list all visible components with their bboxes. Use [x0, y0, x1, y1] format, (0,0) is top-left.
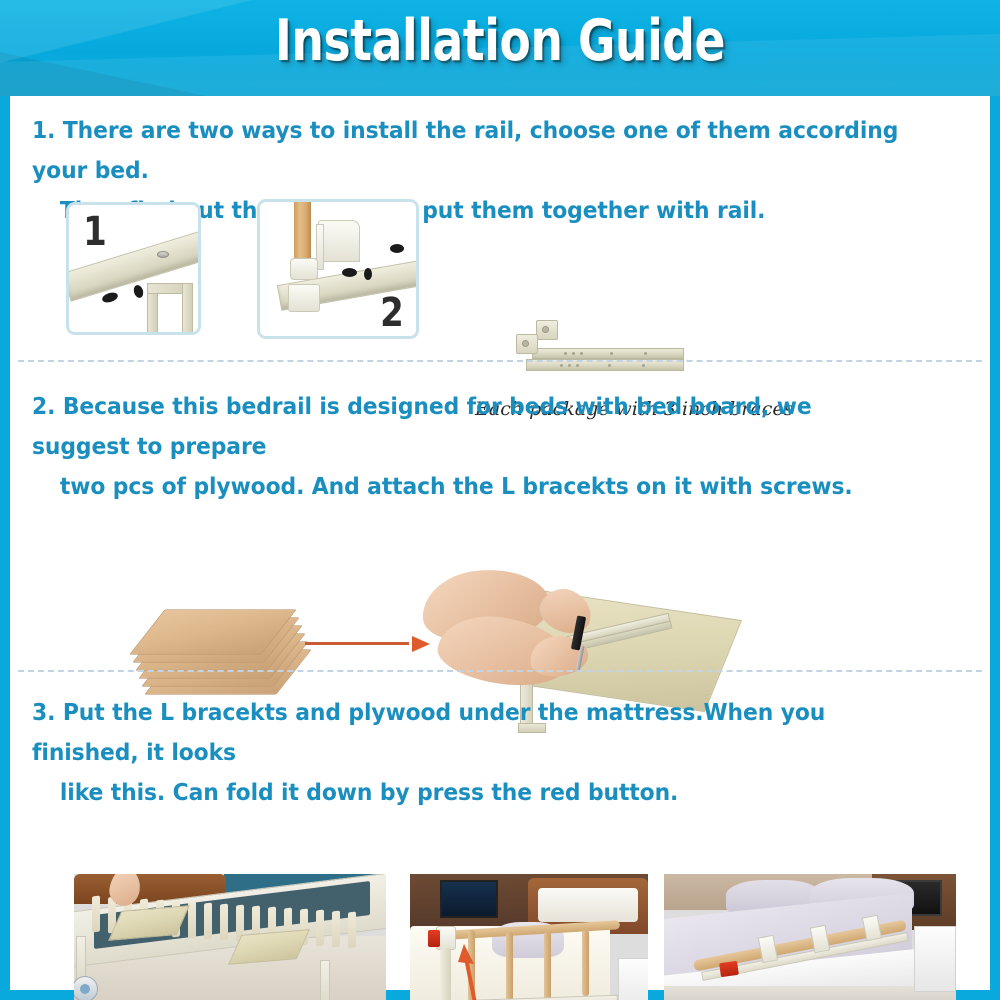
rail-leg	[440, 948, 451, 1000]
bed-base-photo	[74, 874, 386, 1000]
installation-guide-page: Installation Guide 1. There are two ways…	[0, 0, 1000, 1000]
rail-post	[506, 932, 513, 1000]
step-2-line-1: 2. Because this bedrail is designed for …	[32, 392, 812, 460]
step-1-line-1: 1. There are two ways to install the rai…	[32, 116, 898, 184]
plywood-stack-illustration	[132, 601, 287, 696]
step-1-photo-panel-1: 1	[66, 202, 201, 335]
rail-post	[544, 932, 551, 1000]
three-inch-braces-illustration	[510, 318, 700, 388]
tv-screen	[440, 880, 498, 918]
rail-hole	[101, 291, 119, 304]
rail-hole	[132, 284, 144, 299]
pivot-joint	[290, 258, 318, 280]
rail-hole	[342, 268, 357, 277]
red-button	[719, 961, 739, 977]
guide-body: 1. There are two ways to install the rai…	[10, 96, 990, 990]
red-button	[428, 930, 440, 947]
nightstand	[914, 926, 956, 992]
panel-1-number: 1	[83, 209, 107, 255]
page-title: Installation Guide	[100, 8, 900, 74]
panel-2-number: 2	[380, 290, 404, 336]
l-bracket-leg	[182, 283, 193, 335]
rail-hole	[364, 268, 372, 280]
red-button-pointer-arrow	[458, 936, 492, 1000]
step-3-line-1: 3. Put the L bracekts and plywood under …	[32, 698, 825, 766]
step-3-line-2: like this. Can fold it down by press the…	[32, 772, 914, 812]
step-1-photo-panel-2: 2	[257, 199, 419, 339]
page-header: Installation Guide	[0, 0, 1000, 96]
rail-end-cap	[288, 284, 320, 312]
step-2-line-2: two pcs of plywood. And attach the L bra…	[32, 466, 914, 506]
section-divider-1	[18, 360, 982, 362]
rail-post	[582, 930, 589, 996]
arrow-up-icon	[458, 936, 492, 1000]
arrow-line	[305, 642, 409, 645]
brace-hole	[522, 340, 529, 347]
bed-rail-folded-photo	[664, 874, 956, 1000]
bed-rail-installed-photo	[410, 874, 648, 1000]
screw-head	[157, 251, 169, 258]
brace-bar-upper	[532, 348, 684, 359]
step-3-text: 3. Put the L bracekts and plywood under …	[32, 692, 914, 812]
step-2-text: 2. Because this bedrail is designed for …	[32, 386, 914, 506]
section-divider-2	[18, 670, 982, 672]
process-arrow	[305, 636, 430, 652]
rail-hole	[390, 244, 404, 253]
brace-hole	[542, 326, 549, 333]
nightstand	[618, 958, 648, 1000]
clamp-housing	[318, 220, 360, 262]
